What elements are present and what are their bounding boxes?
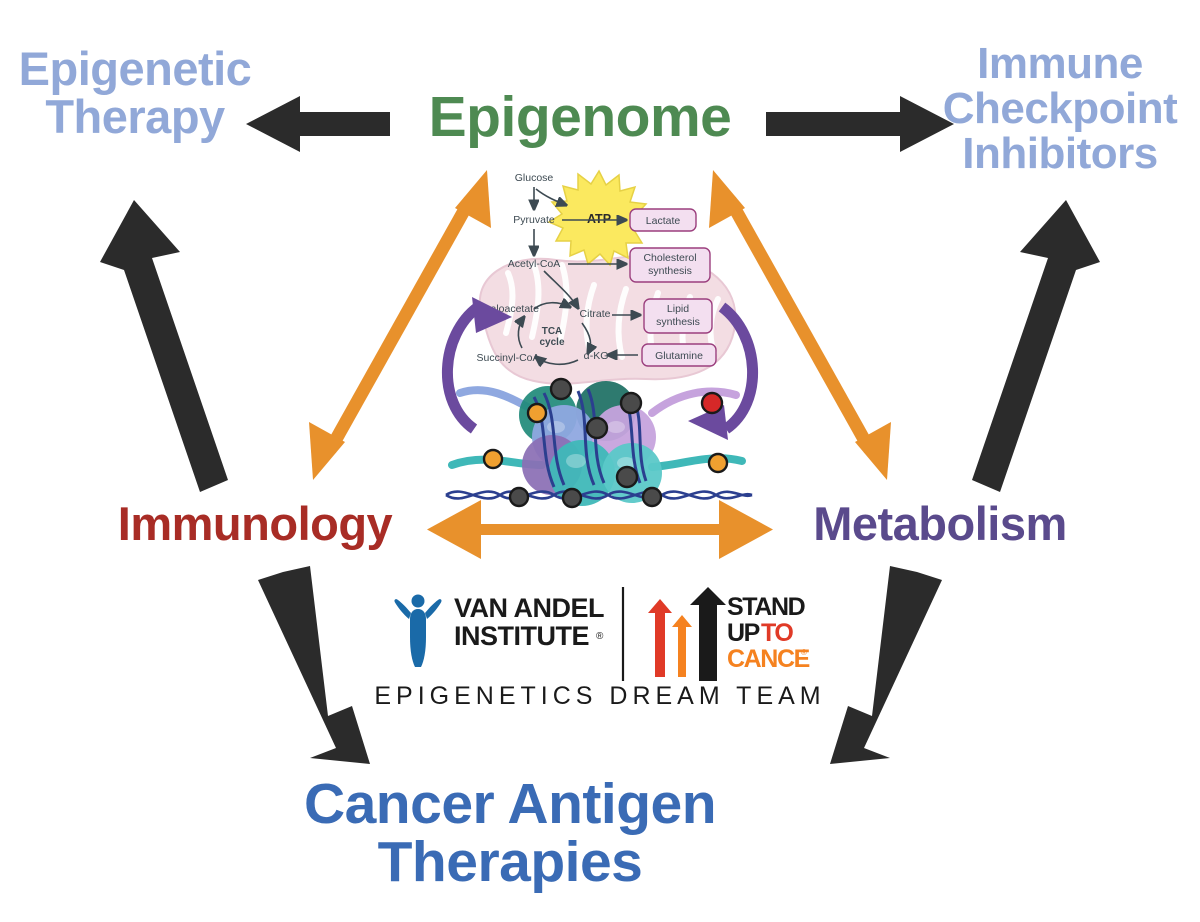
suc-orange-arrow xyxy=(672,615,692,677)
suc-red-arrow xyxy=(648,599,672,677)
atp-label: ATP xyxy=(587,212,611,226)
mark-phospho-red xyxy=(702,393,722,413)
node-epigenome[interactable]: Epigenome xyxy=(400,88,760,146)
node-immune-checkpoint-line3: Inhibitors xyxy=(920,132,1200,177)
histone-tail-right-lower xyxy=(652,458,742,467)
van-andel-institute-logo: VAN ANDEL INSTITUTE ® xyxy=(394,593,604,667)
van-andel-figure-icon xyxy=(394,595,441,668)
diagram-canvas: ATP xyxy=(0,0,1200,922)
node-metabolism-label: Metabolism xyxy=(813,497,1067,550)
suc-cancer: CANCER xyxy=(727,645,810,673)
stand-up-to-cancer-logo: STAND UP TO CANCER ® xyxy=(648,587,810,681)
svg-text:synthesis: synthesis xyxy=(648,265,692,277)
label-tca-line1: TCA xyxy=(542,326,563,337)
node-immune-checkpoint-line2: Checkpoint xyxy=(920,87,1200,132)
label-acetyl-coa: Acetyl-CoA xyxy=(508,258,561,270)
node-immunology-label: Immunology xyxy=(118,497,392,550)
product-box-cholesterol-synthesis: Cholesterol synthesis xyxy=(630,248,710,282)
node-metabolism[interactable]: Metabolism xyxy=(780,500,1100,548)
product-box-lactate: Lactate xyxy=(630,209,696,231)
mark-methyl-gray xyxy=(551,379,571,399)
svg-text:Cholesterol: Cholesterol xyxy=(643,252,696,264)
product-box-glutamine: Glutamine xyxy=(642,344,716,366)
node-epigenome-label: Epigenome xyxy=(429,85,732,149)
mark-methyl-gray xyxy=(587,418,607,438)
mark-acetyl-orange xyxy=(484,450,502,468)
purple-arrow-left xyxy=(447,307,478,429)
suc-stand: STAND xyxy=(727,593,805,621)
mark-methyl-gray xyxy=(510,488,528,506)
label-tca-line2: cycle xyxy=(539,337,564,348)
node-immune-checkpoint-line1: Immune xyxy=(920,42,1200,87)
van-andel-line1: VAN ANDEL xyxy=(454,593,604,623)
node-cancer-antigen-line1: Cancer Antigen xyxy=(180,775,840,833)
node-cancer-antigen-line2: Therapies xyxy=(180,833,840,891)
node-immune-checkpoint-inhibitors[interactable]: Immune Checkpoint Inhibitors xyxy=(920,42,1200,177)
suc-registered: ® xyxy=(801,648,807,657)
node-immunology[interactable]: Immunology xyxy=(90,500,420,548)
svg-text:Lipid: Lipid xyxy=(667,303,689,315)
nucleosome-illustration xyxy=(446,379,752,507)
arrow-metabolism-immune-checkpoint xyxy=(972,200,1100,492)
van-andel-line2: INSTITUTE xyxy=(454,621,589,651)
mark-methyl-gray xyxy=(617,467,637,487)
label-citrate: Citrate xyxy=(580,308,611,320)
suc-up: UP xyxy=(727,619,760,647)
mark-acetyl-orange xyxy=(528,404,546,422)
label-alpha-kg: α-KG xyxy=(584,350,609,362)
mark-methyl-gray xyxy=(563,489,581,507)
arrow-metabolism-cancer-antigen xyxy=(830,566,942,764)
node-epigenetic-therapy[interactable]: Epigenetic Therapy xyxy=(0,45,270,141)
arrow-immunology-cancer-antigen xyxy=(258,566,370,764)
label-glucose: Glucose xyxy=(515,172,554,184)
svg-text:Lactate: Lactate xyxy=(646,215,681,227)
mark-methyl-gray xyxy=(643,488,661,506)
central-illustration: ATP xyxy=(430,165,770,510)
suc-black-arrow xyxy=(690,587,726,681)
mark-acetyl-orange xyxy=(709,454,727,472)
mark-methyl-gray xyxy=(621,393,641,413)
suc-to: TO xyxy=(761,619,793,647)
label-pyruvate: Pyruvate xyxy=(513,214,555,226)
svg-text:Glutamine: Glutamine xyxy=(655,350,703,362)
node-cancer-antigen-therapies[interactable]: Cancer Antigen Therapies xyxy=(180,775,840,891)
arrow-immunology-epigenetic-therapy xyxy=(100,200,228,492)
label-succinyl-coa: Succinyl-CoA xyxy=(476,352,539,364)
node-epigenetic-therapy-line1: Epigenetic xyxy=(0,45,270,93)
product-box-lipid-synthesis: Lipid synthesis xyxy=(644,299,712,333)
van-andel-registered: ® xyxy=(596,631,604,642)
svg-text:synthesis: synthesis xyxy=(656,316,700,328)
dream-team-tagline: EPIGENETICS DREAM TEAM xyxy=(200,682,1000,711)
node-epigenetic-therapy-line2: Therapy xyxy=(0,93,270,141)
